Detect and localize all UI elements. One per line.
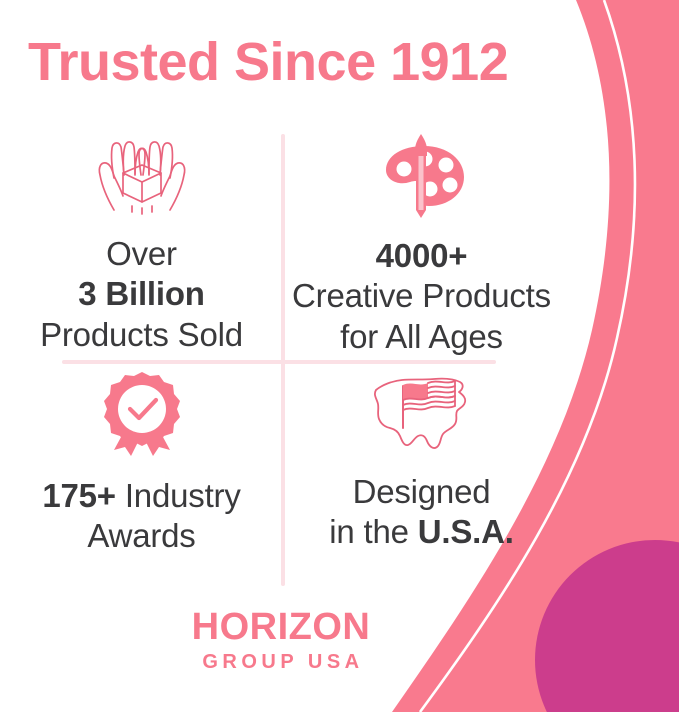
stats-grid: Over 3 Billion Products Sold bbox=[0, 128, 560, 590]
stat-text-designed-in-usa: Designed in the U.S.A. bbox=[329, 472, 513, 553]
logo-wordmark: HORIZON bbox=[0, 608, 562, 646]
stat-line-3: for All Ages bbox=[292, 317, 551, 357]
stat-value: U.S.A. bbox=[418, 513, 514, 550]
stat-block-designed-in-usa: Designed in the U.S.A. bbox=[283, 360, 560, 590]
stat-line-1: 175+ Industry bbox=[42, 476, 240, 516]
award-badge-icon bbox=[94, 368, 190, 460]
stat-block-creative-products: 4000+ Creative Products for All Ages bbox=[283, 128, 560, 360]
stat-text-industry-awards: 175+ Industry Awards bbox=[42, 476, 240, 557]
stat-line-2: Creative Products bbox=[292, 276, 551, 316]
stat-line-1: Over bbox=[40, 234, 243, 274]
stat-text-products-sold: Over 3 Billion Products Sold bbox=[40, 234, 243, 355]
logo-tagline: GROUP USA bbox=[0, 652, 562, 672]
stat-line-1: 4000+ bbox=[292, 236, 551, 276]
stat-line-2: Awards bbox=[42, 516, 240, 556]
page-title: Trusted Since 1912 bbox=[28, 34, 568, 91]
stat-value: 175+ bbox=[42, 477, 116, 514]
stat-block-industry-awards: 175+ Industry Awards bbox=[0, 360, 283, 590]
stat-line-2: 3 Billion bbox=[40, 274, 243, 314]
usa-map-flag-icon bbox=[362, 368, 482, 456]
stat-text-creative-products: 4000+ Creative Products for All Ages bbox=[292, 236, 551, 357]
hands-holding-box-icon bbox=[88, 132, 196, 218]
stat-line-3: Products Sold bbox=[40, 315, 243, 355]
brand-infographic: Trusted Since 1912 bbox=[0, 0, 679, 712]
paint-palette-icon bbox=[372, 132, 472, 220]
stat-label: in the bbox=[329, 513, 418, 550]
stat-label: Industry bbox=[116, 477, 241, 514]
stat-line-1: Designed bbox=[329, 472, 513, 512]
stat-line-2: in the U.S.A. bbox=[329, 512, 513, 552]
stat-block-products-sold: Over 3 Billion Products Sold bbox=[0, 128, 283, 360]
brand-logo: HORIZON GROUP USA bbox=[0, 608, 562, 672]
